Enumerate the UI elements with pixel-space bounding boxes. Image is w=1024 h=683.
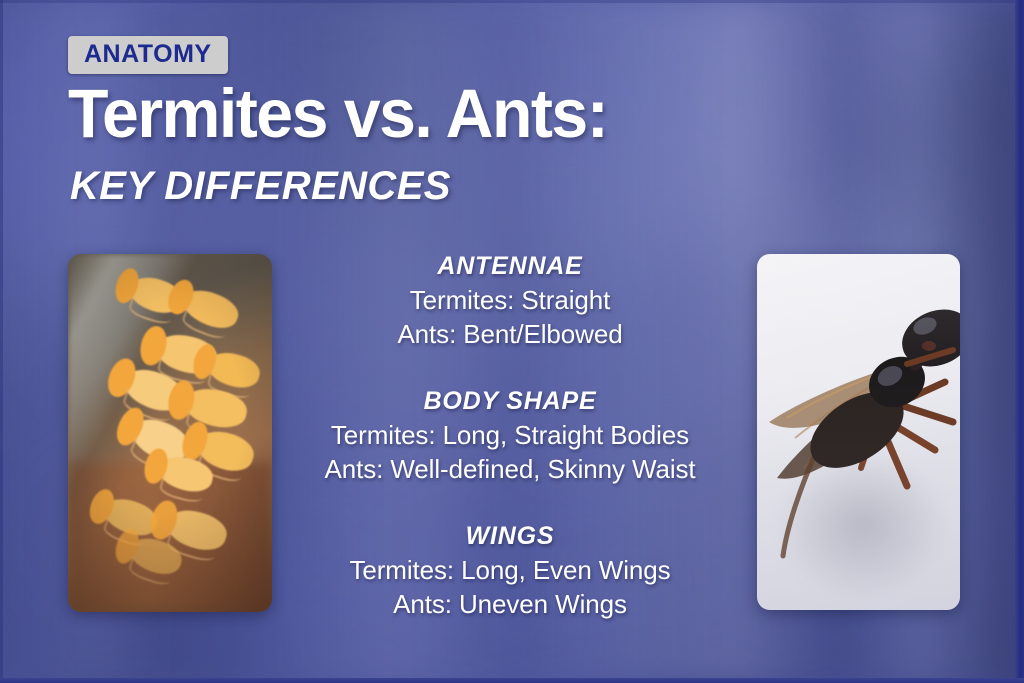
fact-line-ants: Ants: Well-defined, Skinny Waist — [280, 452, 740, 486]
page-subtitle: KEY DIFFERENCES — [70, 166, 451, 206]
fact-title: ANTENNAE — [280, 250, 740, 283]
border-top — [0, 0, 1024, 3]
termites-photo — [68, 254, 272, 612]
fact-line-termites: Termites: Long, Even Wings — [280, 553, 740, 587]
infographic-poster: ANATOMY Termites vs. Ants: KEY DIFFERENC… — [0, 0, 1024, 683]
termites-photo-vignette — [68, 254, 272, 612]
ant-photo-sheen — [757, 254, 960, 610]
fact-body-shape: BODY SHAPE Termites: Long, Straight Bodi… — [280, 385, 740, 486]
fact-line-ants: Ants: Bent/Elbowed — [280, 317, 740, 351]
border-left — [0, 0, 3, 683]
fact-line-termites: Termites: Long, Straight Bodies — [280, 418, 740, 452]
fact-title: WINGS — [280, 520, 740, 553]
fact-list: ANTENNAE Termites: Straight Ants: Bent/E… — [280, 250, 740, 621]
category-badge-label: ANATOMY — [84, 42, 212, 67]
page-title: Termites vs. Ants: — [68, 79, 607, 148]
fact-wings: WINGS Termites: Long, Even Wings Ants: U… — [280, 520, 740, 621]
fact-line-ants: Ants: Uneven Wings — [280, 587, 740, 621]
fact-antennae: ANTENNAE Termites: Straight Ants: Bent/E… — [280, 250, 740, 351]
winged-ant-photo — [757, 254, 960, 610]
category-badge: ANATOMY — [68, 36, 228, 74]
border-bottom — [0, 678, 1024, 683]
border-right — [1015, 0, 1024, 683]
fact-line-termites: Termites: Straight — [280, 283, 740, 317]
fact-title: BODY SHAPE — [280, 385, 740, 418]
